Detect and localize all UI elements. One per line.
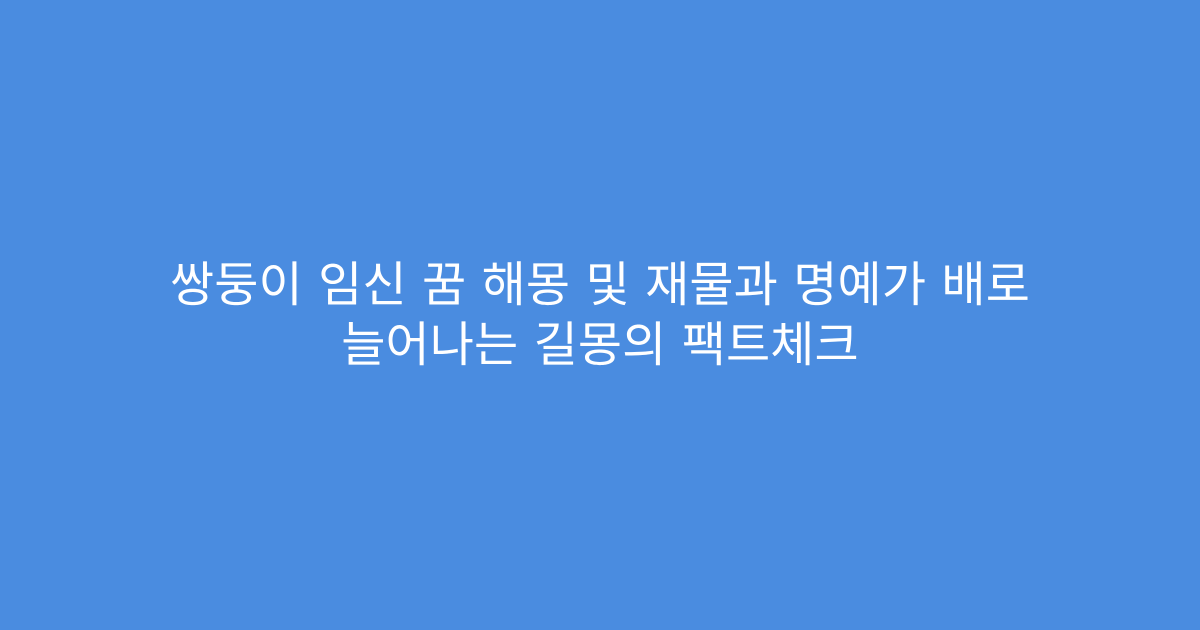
- share-card: 쌍둥이 임신 꿈 해몽 및 재물과 명예가 배로 늘어나는 길몽의 팩트체크: [0, 0, 1200, 630]
- page-title-line-2: 늘어나는 길몽의 팩트체크: [100, 315, 1100, 375]
- page-title: 쌍둥이 임신 꿈 해몽 및 재물과 명예가 배로 늘어나는 길몽의 팩트체크: [100, 255, 1100, 375]
- page-title-line-1: 쌍둥이 임신 꿈 해몽 및 재물과 명예가 배로: [100, 255, 1100, 315]
